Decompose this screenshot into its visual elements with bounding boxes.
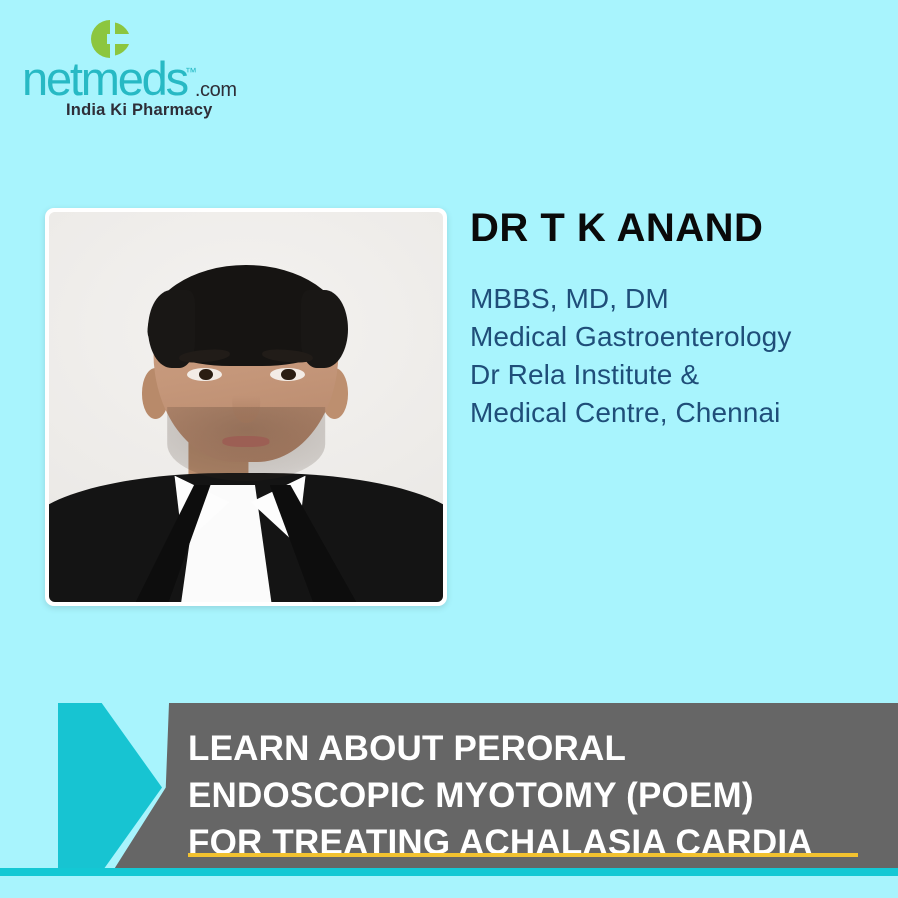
banner-headline-line: ENDOSCOPIC MYOTOMY (POEM): [188, 772, 878, 819]
credential-line: Medical Centre, Chennai: [470, 394, 880, 432]
bottom-accent-strip: [0, 868, 898, 876]
doctor-credentials: MBBS, MD, DM Medical Gastroenterology Dr…: [470, 280, 880, 432]
logo-word-text: netmeds: [22, 56, 187, 102]
credential-line: Medical Gastroenterology: [470, 318, 880, 356]
doctor-info-block: DR T K ANAND MBBS, MD, DM Medical Gastro…: [470, 205, 880, 432]
trademark-symbol: ™: [185, 65, 197, 79]
portrait-pupil-right: [281, 369, 295, 381]
banner-accent-underline: [188, 853, 858, 857]
doctor-portrait-image: [49, 212, 443, 602]
netmeds-wordmark: netmeds™.com: [22, 56, 237, 98]
doctor-name: DR T K ANAND: [470, 205, 880, 251]
doctor-photo-frame: [45, 208, 447, 606]
logo-tagline: India Ki Pharmacy: [66, 101, 212, 120]
banner-headline-line: FOR TREATING ACHALASIA CARDIA: [188, 819, 878, 866]
promo-poster: netmeds™.com India Ki Pharmacy: [0, 0, 898, 898]
netmeds-logo[interactable]: netmeds™.com India Ki Pharmacy: [22, 18, 237, 113]
credential-line: Dr Rela Institute &: [470, 356, 880, 394]
logo-dotcom-text: .com: [195, 79, 237, 101]
portrait-mouth: [222, 436, 269, 447]
credential-line: MBBS, MD, DM: [470, 280, 880, 318]
banner-headline-line: LEARN ABOUT PERORAL: [188, 725, 878, 772]
headline-banner: LEARN ABOUT PERORAL ENDOSCOPIC MYOTOMY (…: [0, 700, 898, 875]
portrait-nose: [232, 384, 260, 423]
banner-headline: LEARN ABOUT PERORAL ENDOSCOPIC MYOTOMY (…: [188, 725, 878, 866]
